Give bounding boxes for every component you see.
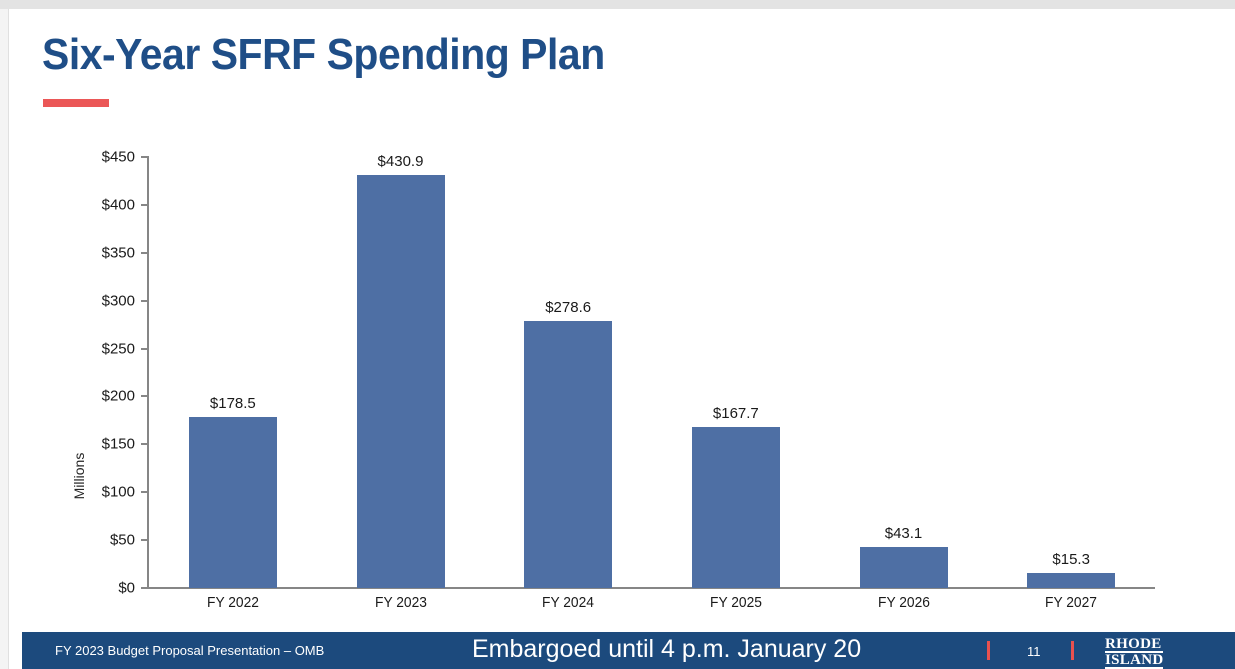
logo-line-2: ISLAND xyxy=(1105,653,1163,669)
rhode-island-logo: RHODE ISLAND xyxy=(1105,637,1163,669)
bar-value-label: $278.6 xyxy=(545,299,591,316)
bar[interactable] xyxy=(860,547,948,588)
logo-line-1: RHODE xyxy=(1105,637,1163,653)
bar[interactable] xyxy=(692,427,780,588)
bar-value-label: $15.3 xyxy=(1052,551,1090,568)
x-axis-category-label: FY 2027 xyxy=(994,594,1149,611)
bar-series: $178.5$430.9$278.6$167.7$43.1$15.3 xyxy=(0,0,1235,588)
bar-value-label: $167.7 xyxy=(713,405,759,422)
bar-value-label: $178.5 xyxy=(210,395,256,412)
footer-page-number: 11 xyxy=(1027,644,1041,659)
bar-column[interactable]: $278.6 xyxy=(524,321,612,588)
bar-value-label: $430.9 xyxy=(378,153,424,170)
bar-column[interactable]: $43.1 xyxy=(860,547,948,588)
footer-divider-right xyxy=(1071,641,1074,660)
x-axis-category-label: FY 2024 xyxy=(491,594,646,611)
footer-presentation-label: FY 2023 Budget Proposal Presentation – O… xyxy=(55,643,324,658)
x-axis-category-label: FY 2022 xyxy=(156,594,311,611)
bar-value-label: $43.1 xyxy=(885,525,923,542)
bar[interactable] xyxy=(1027,573,1115,588)
bar-column[interactable]: $167.7 xyxy=(692,427,780,588)
footer-embargo-notice: Embargoed until 4 p.m. January 20 xyxy=(472,635,861,664)
x-axis-category-label: FY 2025 xyxy=(659,594,814,611)
x-axis-category-label: FY 2023 xyxy=(323,594,478,611)
x-axis-category-label: FY 2026 xyxy=(826,594,981,611)
footer-divider-left xyxy=(987,641,990,660)
slide-footer: FY 2023 Budget Proposal Presentation – O… xyxy=(22,632,1235,669)
bar-column[interactable]: $430.9 xyxy=(357,175,445,588)
bar[interactable] xyxy=(189,417,277,588)
slide-canvas: Six-Year SFRF Spending Plan Millions $0$… xyxy=(0,0,1235,669)
bar-column[interactable]: $15.3 xyxy=(1027,573,1115,588)
bar[interactable] xyxy=(524,321,612,588)
bar-column[interactable]: $178.5 xyxy=(189,417,277,588)
bar[interactable] xyxy=(357,175,445,588)
